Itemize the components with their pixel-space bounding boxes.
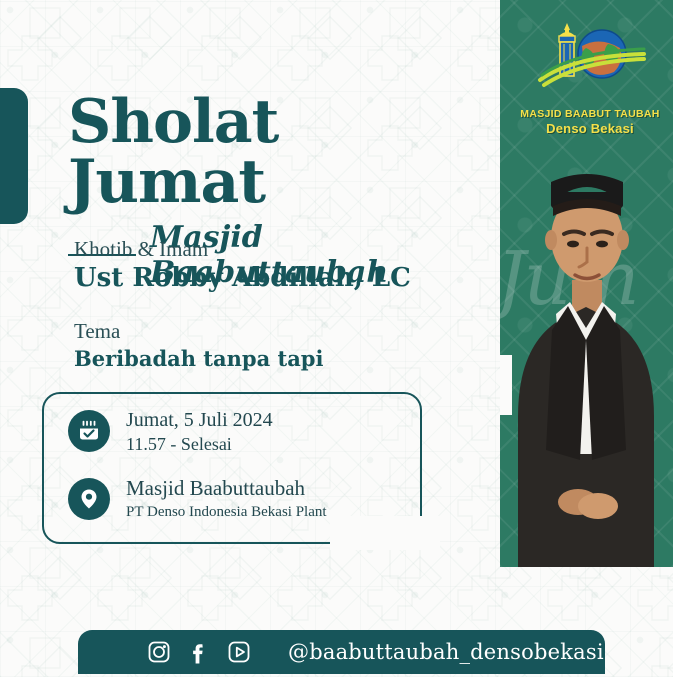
page-title: Sholat Jumat — [68, 92, 488, 212]
schedule-date: Jumat, 5 Juli 2024 — [126, 408, 273, 433]
location-venue: Masjid Baabuttaubah — [126, 476, 327, 501]
left-accent-bar — [0, 88, 28, 224]
location-text: Masjid Baabuttaubah PT Denso Indonesia B… — [126, 476, 327, 522]
speaker-name: Ust Robby Abdillah, LC — [74, 263, 474, 294]
calendar-check-icon — [68, 410, 110, 452]
info-rows: Jumat, 5 Juli 2024 11.57 - Selesai Masji… — [68, 408, 398, 522]
youtube-icon[interactable] — [226, 639, 252, 665]
schedule-row: Jumat, 5 Juli 2024 11.57 - Selesai — [68, 408, 398, 456]
mosque-logo: MASJID BAABUT TAUBAH Denso Bekasi — [520, 18, 660, 136]
theme-value: Beribadah tanpa tapi — [74, 346, 474, 371]
social-handle: @baabuttaubah_densobekasi — [288, 640, 604, 664]
schedule-text: Jumat, 5 Juli 2024 11.57 - Selesai — [126, 408, 273, 456]
instagram-icon[interactable] — [146, 639, 172, 665]
speaker-photo-panel: Jum — [500, 0, 673, 567]
facebook-icon[interactable] — [186, 639, 212, 665]
location-row: Masjid Baabuttaubah PT Denso Indonesia B… — [68, 476, 398, 522]
speaker-photo — [500, 130, 673, 567]
details-block: Khotib & Imam Ust Robby Abdillah, LC Tem… — [74, 236, 474, 371]
theme-label: Tema — [74, 318, 474, 344]
theme-block: Tema Beribadah tanpa tapi — [74, 318, 474, 370]
location-address: PT Denso Indonesia Bekasi Plant — [126, 503, 327, 523]
schedule-time: 11.57 - Selesai — [126, 433, 273, 456]
poster-canvas: Jum — [0, 0, 673, 677]
mosque-globe-logo-icon — [520, 18, 660, 102]
panel-notch — [500, 355, 512, 415]
speaker-role-label: Khotib & Imam — [74, 236, 474, 262]
social-footer-bar: @baabuttaubah_densobekasi — [78, 630, 605, 674]
logo-title: MASJID BAABUT TAUBAH — [520, 108, 660, 120]
map-pin-icon — [68, 478, 110, 520]
